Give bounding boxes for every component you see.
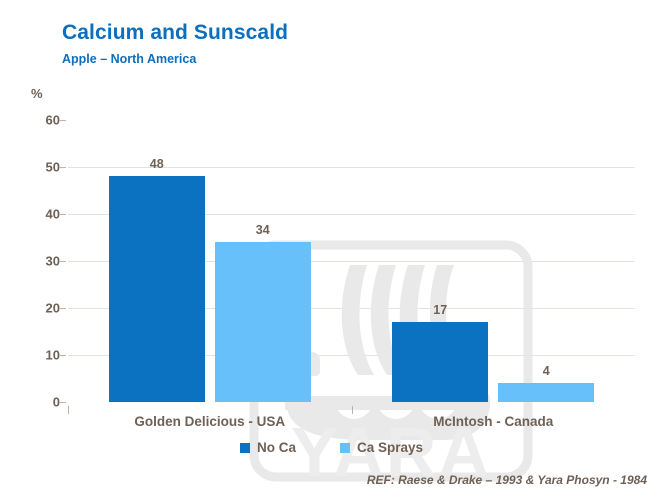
chart-legend: No CaCa Sprays: [0, 440, 663, 455]
x-axis-divider: [352, 406, 353, 414]
legend-label: No Ca: [257, 440, 296, 455]
bar-value-label: 17: [392, 303, 488, 317]
x-axis-category-label: Golden Delicious - USA: [134, 414, 285, 429]
legend-swatch-icon: [240, 443, 250, 453]
legend-label: Ca Sprays: [357, 440, 423, 455]
y-axis-tick-mark: [60, 214, 66, 215]
y-axis-tick-label: 60: [26, 113, 60, 128]
y-axis-unit-label: %: [31, 86, 43, 101]
chart-plot-area: YARA 4834174: [68, 120, 635, 402]
y-axis-tick-mark: [60, 308, 66, 309]
y-axis-tick-label: 50: [26, 160, 60, 175]
bar-value-label: 4: [498, 364, 594, 378]
bar-value-label: 34: [215, 223, 311, 237]
y-axis-tick-label: 10: [26, 348, 60, 363]
bar[interactable]: 17: [392, 322, 488, 402]
x-axis-category-label: McIntosh - Canada: [433, 414, 553, 429]
y-axis-tick-label: 30: [26, 254, 60, 269]
y-axis-tick-mark: [60, 120, 66, 121]
bar-value-label: 48: [109, 157, 205, 171]
y-axis-tick-mark: [60, 261, 66, 262]
bar[interactable]: 34: [215, 242, 311, 402]
y-axis-tick-label: 40: [26, 207, 60, 222]
y-axis-tick-mark: [60, 355, 66, 356]
y-axis-tick-mark: [60, 402, 66, 403]
x-axis-divider: [68, 406, 69, 414]
reference-note: REF: Raese & Drake – 1993 & Yara Phosyn …: [367, 473, 647, 487]
y-axis-tick-label: 20: [26, 301, 60, 316]
bar[interactable]: 48: [109, 176, 205, 402]
legend-swatch-icon: [340, 443, 350, 453]
bar[interactable]: 4: [498, 383, 594, 402]
page-title: Calcium and Sunscald: [62, 21, 288, 45]
legend-item[interactable]: Ca Sprays: [340, 440, 423, 455]
legend-item[interactable]: No Ca: [240, 440, 296, 455]
chart-subtitle: Apple – North America: [62, 52, 196, 66]
x-axis-category-labels: Golden Delicious - USAMcIntosh - Canada: [68, 406, 635, 428]
y-axis-tick-mark: [60, 167, 66, 168]
y-axis-tick-labels: 0102030405060: [20, 120, 60, 402]
y-axis-tick-label: 0: [26, 395, 60, 410]
